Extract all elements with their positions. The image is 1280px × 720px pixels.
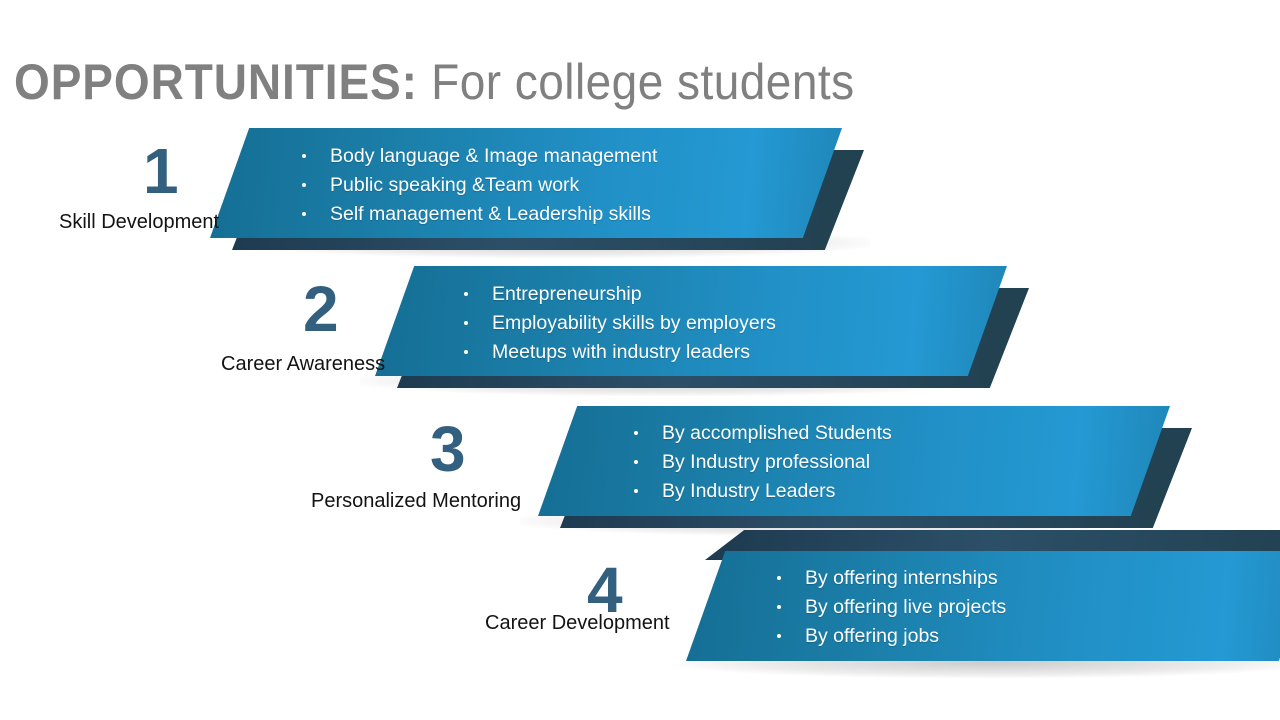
page-title: OPPORTUNITIES: For college students: [14, 52, 855, 112]
list-item: Body language & Image management: [300, 142, 657, 171]
list-item: Public speaking &Team work: [300, 171, 657, 200]
step-2-number: 2: [303, 277, 339, 341]
step-4-bullets: By offering internships By offering live…: [775, 564, 1006, 651]
step-3-bullets: By accomplished Students By Industry pro…: [632, 419, 892, 506]
list-item: By offering live projects: [775, 593, 1006, 622]
step-3-label: Personalized Mentoring: [311, 489, 521, 513]
list-item: By Industry professional: [632, 448, 892, 477]
step-1-label: Skill Development: [59, 210, 219, 234]
list-item: By accomplished Students: [632, 419, 892, 448]
step-3-number: 3: [430, 417, 466, 481]
list-item: Meetups with industry leaders: [462, 338, 776, 367]
list-item: By offering internships: [775, 564, 1006, 593]
list-item: Self management & Leadership skills: [300, 200, 657, 229]
list-item: By Industry Leaders: [632, 477, 892, 506]
page-title-rest: For college students: [418, 54, 855, 110]
step-4-label: Career Development: [485, 611, 670, 635]
page-title-strong: OPPORTUNITIES:: [14, 54, 418, 110]
step-2-label: Career Awareness: [221, 352, 385, 376]
step-1-bullets: Body language & Image management Public …: [300, 142, 657, 229]
list-item: Employability skills by employers: [462, 309, 776, 338]
step-2-bullets: Entrepreneurship Employability skills by…: [462, 280, 776, 367]
step-1-number: 1: [143, 139, 179, 203]
slide-canvas: OPPORTUNITIES: For college students Body…: [0, 0, 1280, 720]
list-item: By offering jobs: [775, 622, 1006, 651]
list-item: Entrepreneurship: [462, 280, 776, 309]
